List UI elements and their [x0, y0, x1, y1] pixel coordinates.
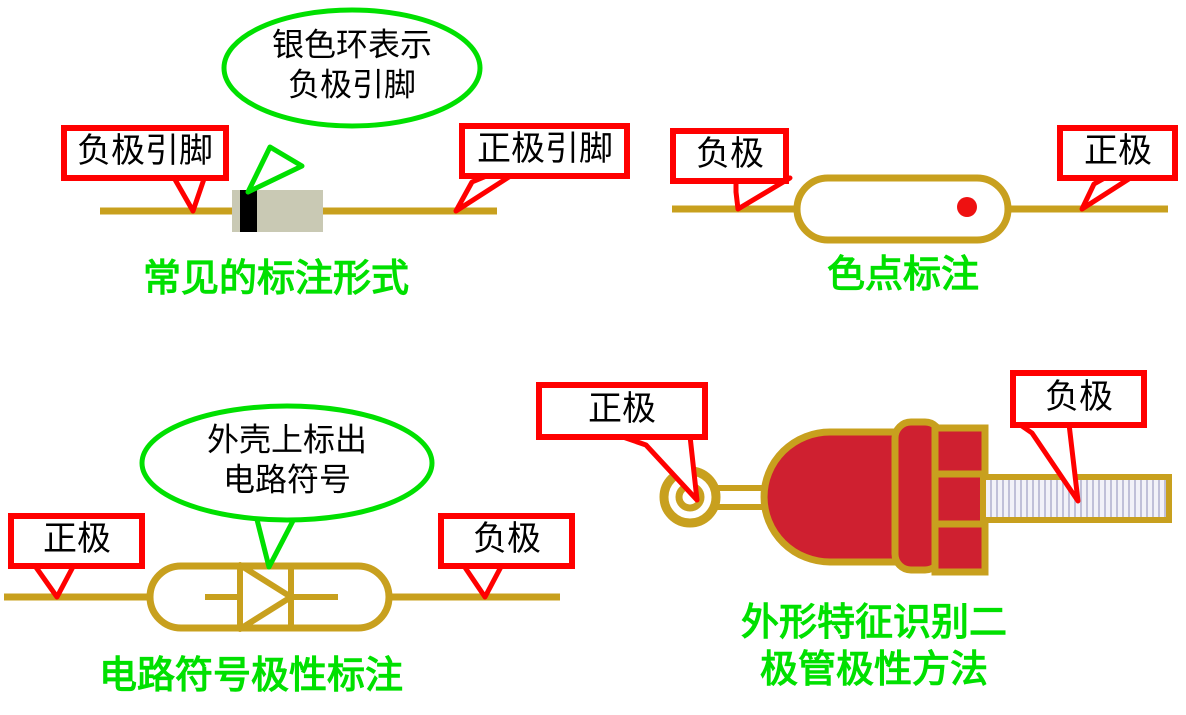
panel-caption: 电路符号极性标注 — [99, 655, 403, 697]
diode-body-outline — [150, 566, 389, 628]
cathode-band-icon — [240, 190, 257, 232]
callout-anode-lead: 正极引脚 — [456, 126, 627, 211]
callout-anode: 正极 — [1060, 128, 1175, 209]
callout-tail — [456, 175, 512, 211]
callout-label: 正极 — [588, 390, 656, 428]
diagram-canvas: 银色环表示 负极引脚 负极引脚 正极引脚 常见的标注形式 — [0, 0, 1186, 715]
balloon-line-1: 外壳上标出 — [207, 421, 367, 457]
balloon-silver-band: 银色环表示 负极引脚 — [224, 10, 480, 192]
balloon-line-2: 负极引脚 — [288, 66, 416, 102]
panel-caption-line-2: 极管极性方法 — [760, 649, 988, 691]
callout-tail — [620, 436, 697, 500]
callout-label: 负极引脚 — [77, 132, 213, 170]
panel-stud-diode: 正极 负极 外形特征识别二 极管极性方法 — [539, 373, 1169, 691]
callout-label: 负极 — [473, 520, 541, 558]
callout-label: 正极引脚 — [477, 130, 613, 168]
diode-polarity-diagram: 银色环表示 负极引脚 负极引脚 正极引脚 常见的标注形式 — [0, 0, 1186, 715]
diode-red-body — [764, 432, 905, 562]
callout-anode: 正极 — [11, 516, 142, 597]
panel-color-dot: 负极 正极 色点标注 — [672, 128, 1175, 296]
callout-tail — [173, 176, 205, 211]
balloon-line-1: 银色环表示 — [272, 26, 432, 62]
callout-cathode: 负极 — [673, 131, 790, 209]
panel-caption: 常见的标注形式 — [143, 258, 409, 300]
panel-caption: 色点标注 — [827, 254, 979, 296]
balloon-tail — [248, 147, 302, 192]
panel-common-marking: 银色环表示 负极引脚 负极引脚 正极引脚 常见的标注形式 — [64, 10, 627, 300]
callout-label: 正极 — [43, 520, 111, 558]
red-dot-icon — [957, 197, 977, 217]
callout-anode: 正极 — [539, 385, 705, 500]
callout-cathode: 负极 — [441, 516, 572, 597]
callout-label: 负极 — [696, 135, 764, 173]
callout-cathode-lead: 负极引脚 — [64, 128, 226, 211]
callout-label: 正极 — [1084, 132, 1152, 170]
hex-flange — [935, 428, 985, 572]
balloon-line-2: 电路符号 — [223, 461, 351, 497]
panel-caption-line-1: 外形特征识别二 — [741, 602, 1007, 644]
callout-label: 负极 — [1045, 378, 1113, 416]
panel-circuit-symbol: 外壳上标出 电路符号 正极 负极 电路符号极性标注 — [4, 406, 572, 697]
balloon-circuit-symbol: 外壳上标出 电路符号 — [142, 406, 432, 567]
